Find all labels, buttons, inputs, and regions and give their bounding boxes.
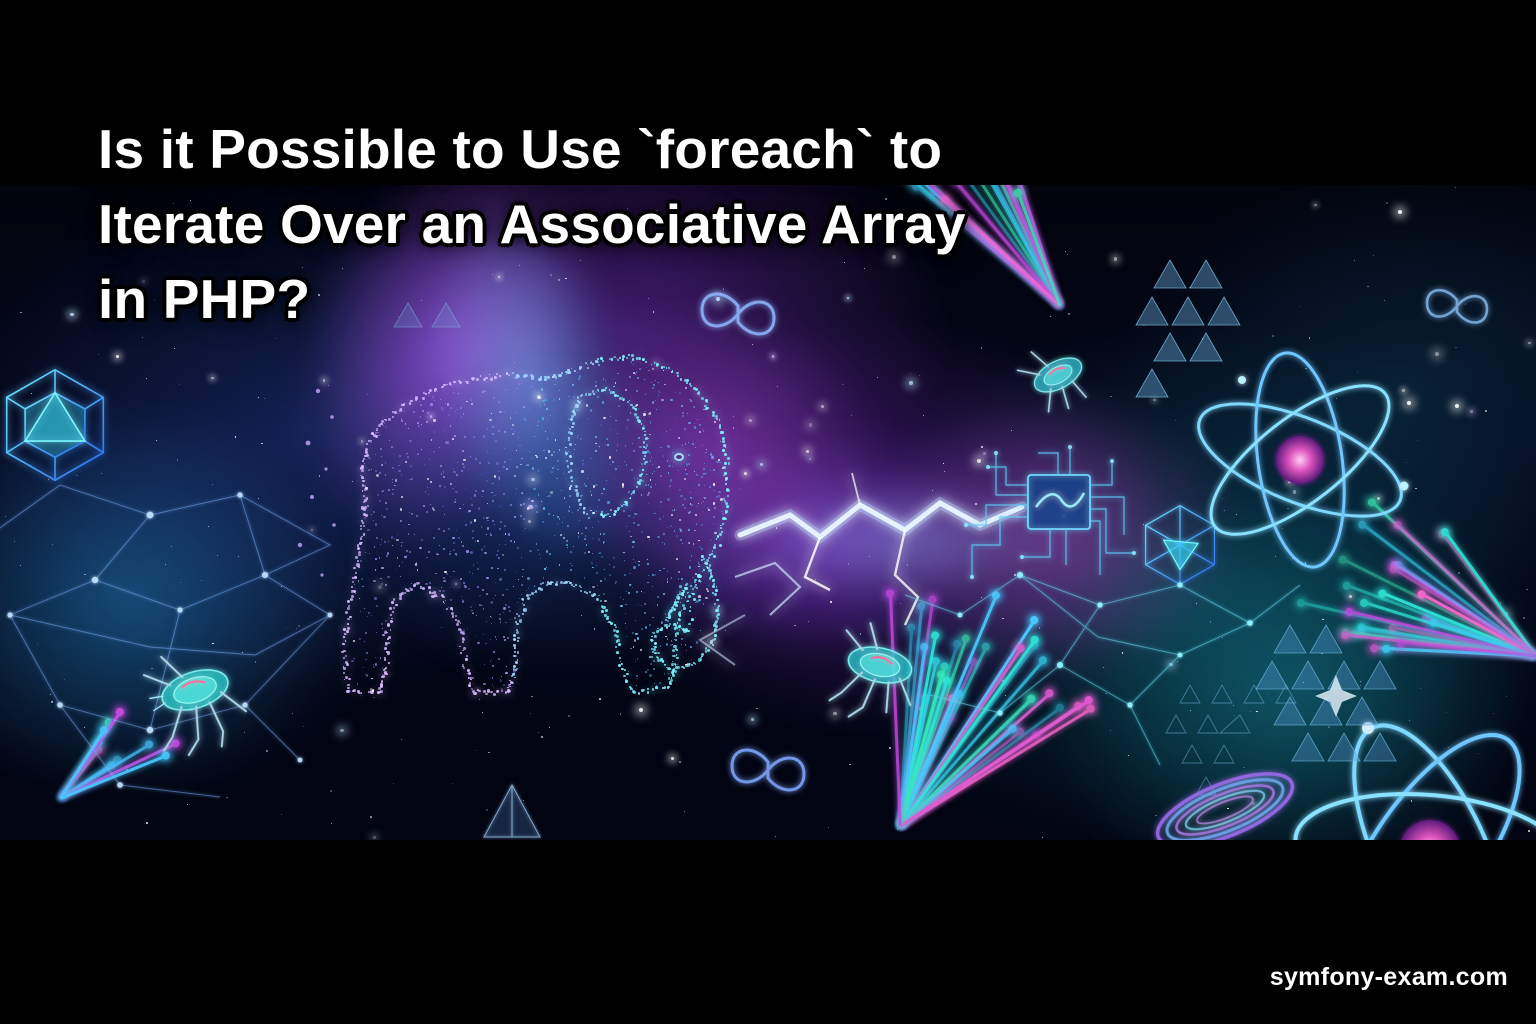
icosahedron-wireframe	[7, 370, 104, 480]
site-watermark: symfony-exam.com	[1270, 963, 1508, 992]
circuit-chip	[964, 445, 1136, 579]
page-title: Is it Possible to Use `foreach` to Itera…	[98, 112, 1248, 337]
atom-orbit-large	[1184, 347, 1416, 573]
image-canvas: Is it Possible to Use `foreach` to Itera…	[0, 0, 1536, 1024]
robot-bug	[1013, 334, 1097, 421]
robot-bug	[827, 618, 925, 729]
constellation-node	[958, 572, 1253, 716]
infinity-symbol	[1427, 290, 1487, 322]
title-line-3: in PHP?	[98, 262, 1248, 337]
robot-bug	[136, 637, 254, 764]
icosahedron-wireframe	[1146, 506, 1215, 585]
wire-pyramid	[484, 785, 540, 837]
ring-vortex	[1149, 759, 1302, 840]
infinity-symbol	[732, 750, 804, 790]
lightning-bolt	[700, 473, 1022, 665]
constellation-network	[905, 575, 1300, 765]
title-line-1: Is it Possible to Use `foreach` to	[98, 112, 1248, 187]
particle-spray	[298, 389, 336, 577]
title-line-2: Iterate Over an Associative Array	[98, 187, 1248, 262]
